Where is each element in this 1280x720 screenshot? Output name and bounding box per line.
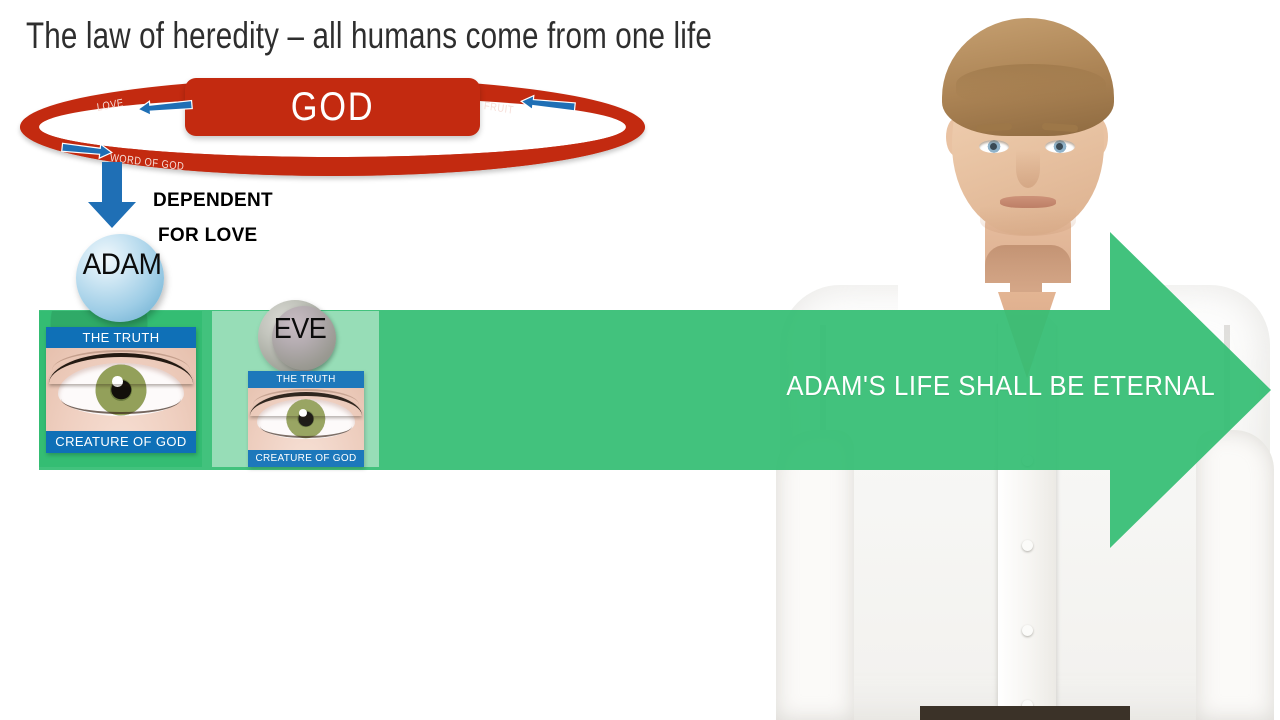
dependent-for-love-text: DEPENDENT FOR LOVE xyxy=(153,183,273,253)
eve-label: EVE xyxy=(259,313,341,346)
chin-shadow xyxy=(980,206,1076,236)
eve-card-top-band: THE TRUTH xyxy=(248,371,364,388)
page-title: The law of heredity – all humans come fr… xyxy=(26,14,712,58)
love-arrow-icon xyxy=(134,99,194,111)
fruit-arrow-icon xyxy=(517,96,577,108)
nose xyxy=(1016,150,1040,188)
shirt-button xyxy=(1022,625,1033,636)
god-label: GOD xyxy=(291,87,375,127)
eve-card-eye-image xyxy=(248,388,364,450)
eternal-life-arrow-label: ADAM'S LIFE SHALL BE ETERNAL xyxy=(786,370,1163,402)
belt xyxy=(920,706,1130,720)
adam-card-bottom-band: CREATURE OF GOD xyxy=(46,431,196,453)
pupil-right xyxy=(1056,143,1063,150)
eve-card-bottom-band: CREATURE OF GOD xyxy=(248,450,364,467)
dependent-line-2: FOR LOVE xyxy=(153,218,273,253)
shirt-sleeve-right xyxy=(1196,430,1274,720)
pupil-left xyxy=(990,143,997,150)
slide-canvas: The law of heredity – all humans come fr… xyxy=(0,0,1280,720)
eve-truth-card: THE TRUTH CREATURE OF GOD xyxy=(248,371,364,467)
shirt-button xyxy=(1022,540,1033,551)
dependent-line-1: DEPENDENT xyxy=(153,190,273,211)
word-of-god-arrow-icon xyxy=(60,142,116,154)
adam-label: ADAM xyxy=(76,248,169,282)
dependent-down-arrow-icon xyxy=(86,162,138,230)
adam-card-top-band: THE TRUTH xyxy=(46,327,196,348)
shirt-sleeve-left xyxy=(776,430,854,720)
adam-card-eye-image xyxy=(46,348,196,431)
adam-truth-card: THE TRUTH CREATURE OF GOD xyxy=(46,327,196,453)
god-box: GOD xyxy=(185,78,480,136)
